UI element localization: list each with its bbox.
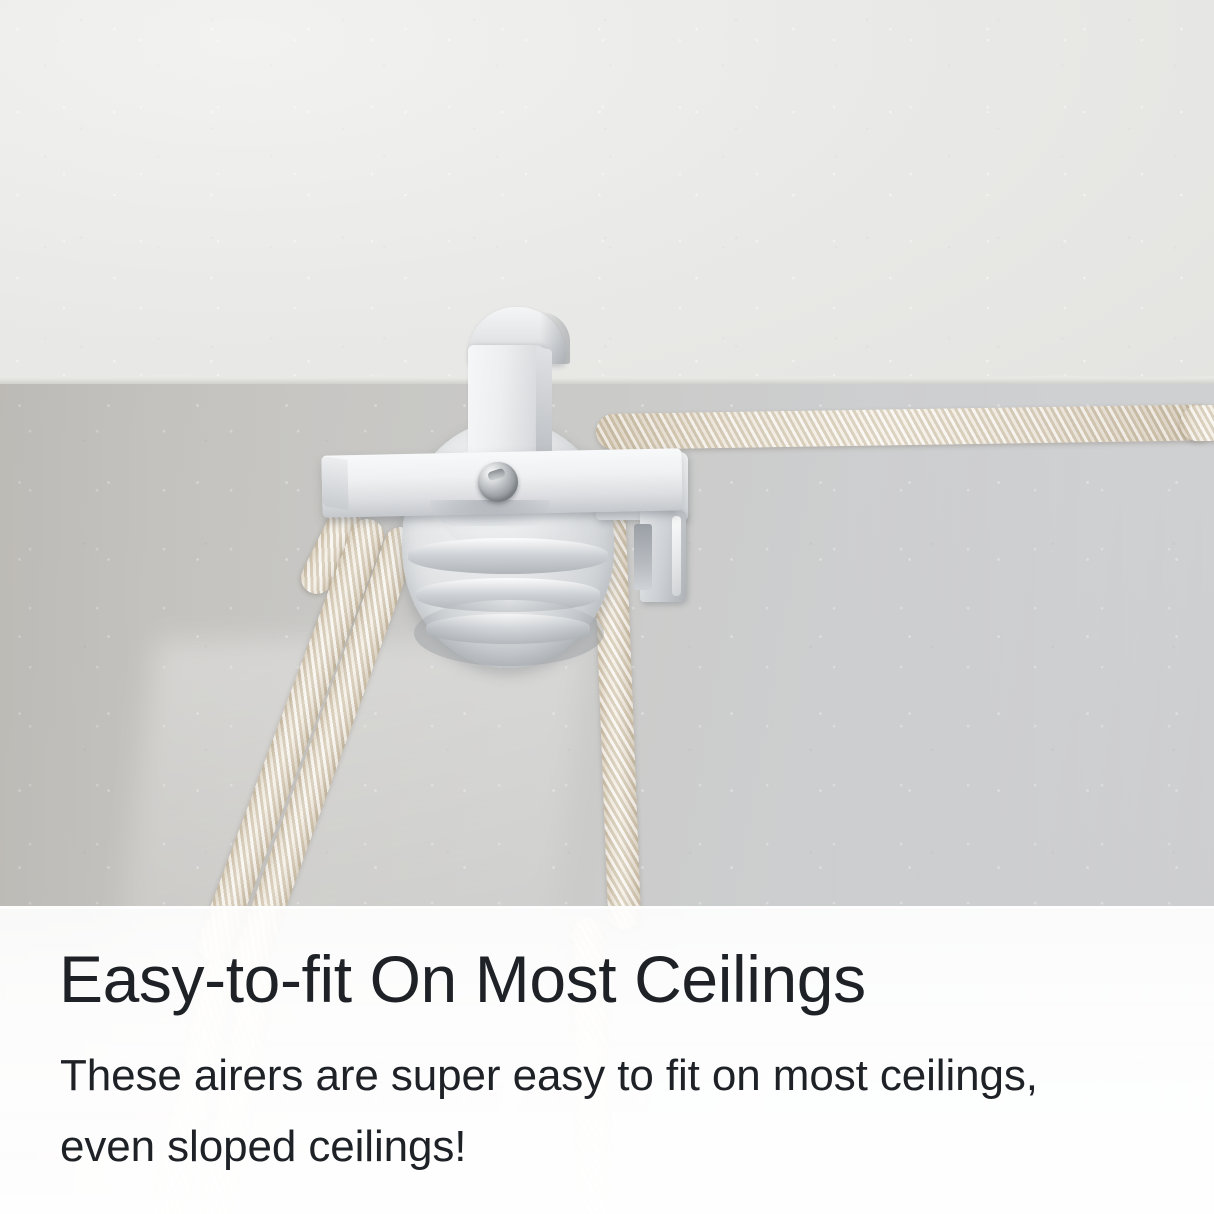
body-text-line-1: These airers are super easy to fit on mo… bbox=[60, 1040, 1160, 1111]
ceiling-plane bbox=[0, 0, 1214, 396]
body-text: These airers are super easy to fit on mo… bbox=[60, 1040, 1160, 1183]
screenshot-root: Easy-to-fit On Most Ceilings These airer… bbox=[0, 0, 1214, 1214]
body-text-line-2: even sloped ceilings! bbox=[60, 1111, 1160, 1182]
bracket-arm-hook-inner bbox=[634, 524, 652, 590]
cross-bar-notch bbox=[430, 500, 550, 526]
pulley-groove-1 bbox=[408, 538, 608, 574]
headline: Easy-to-fit On Most Ceilings bbox=[59, 946, 866, 1012]
bracket-arm-highlight bbox=[672, 516, 681, 596]
cross-bar-left-tip bbox=[321, 456, 348, 510]
text-overlay-top-edge bbox=[0, 906, 1214, 909]
horizontal-rope-continuation bbox=[1180, 404, 1214, 441]
pulley-wheel-shading bbox=[414, 600, 604, 666]
